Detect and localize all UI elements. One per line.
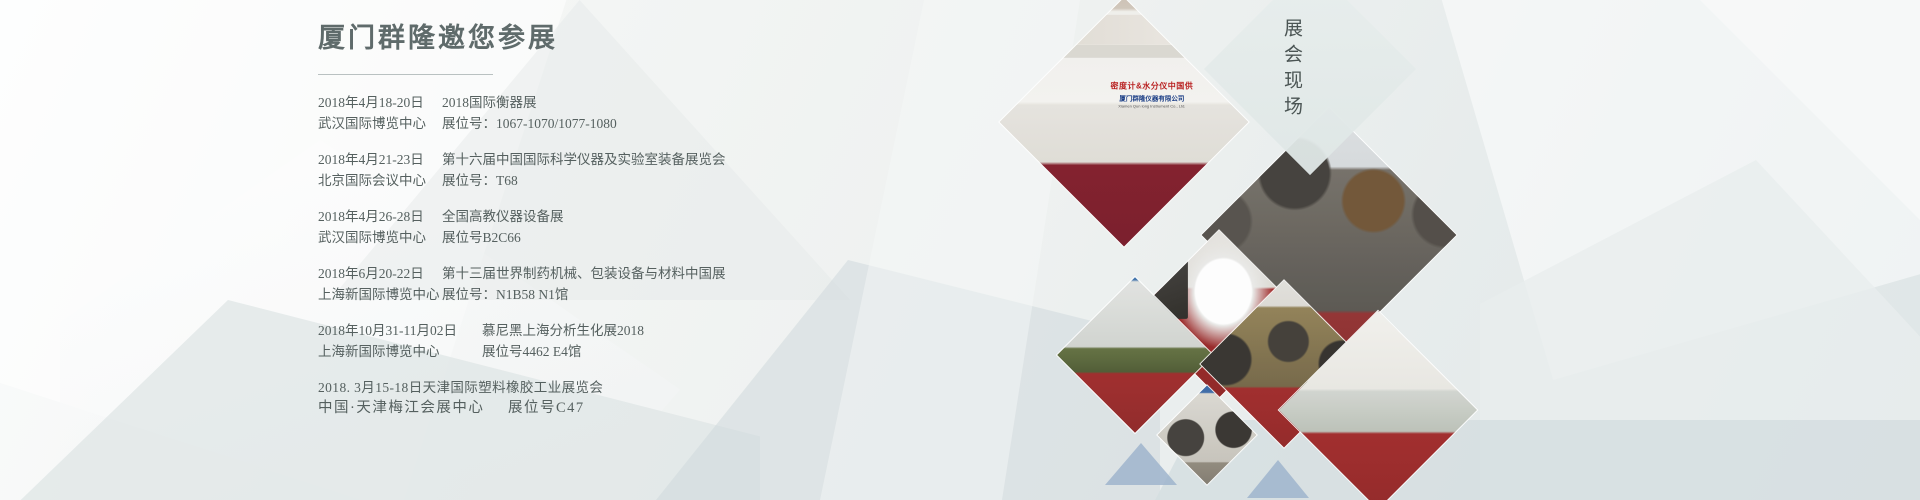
event-venue: 上海新国际博览中心	[318, 284, 442, 305]
background-facet-9	[1700, 0, 1920, 240]
event-row-primary: 2018年4月18-20日2018国际衡器展	[318, 92, 958, 113]
event-row-secondary: 中国·天津梅江会展中心展位号C47	[318, 398, 958, 419]
vertical-label-diamond	[1204, 0, 1416, 175]
event-list-panel: 厦门群隆邀您参展 2018年4月18-20日2018国际衡器展 武汉国际博览中心…	[318, 22, 958, 434]
event-name: 慕尼黑上海分析生化展2018	[482, 320, 644, 341]
event-row-primary: 2018年10月31-11月02日慕尼黑上海分析生化展2018	[318, 320, 958, 341]
photo-collage: 密度计&水分仪中国供 厦门群隆仪器有限公司 Xiamen Qun long In…	[1020, 0, 1460, 500]
event-booth: 展位号：T68	[442, 170, 518, 191]
event-item: 2018年6月20-22日第十三届世界制药机械、包装设备与材料中国展 上海新国际…	[318, 263, 958, 305]
promo-banner: 厦门群隆邀您参展 2018年4月18-20日2018国际衡器展 武汉国际博览中心…	[0, 0, 1920, 500]
event-row-secondary: 武汉国际博览中心展位号B2C66	[318, 227, 958, 248]
event-booth: 展位号B2C66	[442, 227, 521, 248]
event-row-secondary: 上海新国际博览中心展位号：N1B58 N1馆	[318, 284, 958, 305]
event-date: 2018年4月26-28日	[318, 206, 442, 227]
photo-tint	[1000, 0, 1249, 246]
triangle-accent-1	[1105, 443, 1177, 485]
event-row-primary: 2018. 3月15-18日天津国际塑料橡胶工业展览会	[318, 377, 958, 398]
booth-banner-line1: 密度计&水分仪中国供	[1088, 81, 1215, 92]
title-divider	[318, 74, 493, 75]
event-booth: 展位号：N1B58 N1馆	[442, 284, 568, 305]
event-date: 2018. 3月15-18日天津国际塑料橡胶工业展览会	[318, 377, 603, 398]
triangle-accent-2	[1247, 460, 1309, 498]
booth-banner-line2: 厦门群隆仪器有限公司	[1088, 93, 1215, 103]
page-title: 厦门群隆邀您参展	[318, 22, 958, 66]
event-row-secondary: 武汉国际博览中心展位号：1067-1070/1077-1080	[318, 113, 958, 134]
event-name: 第十六届中国国际科学仪器及实验室装备展览会	[442, 149, 726, 170]
booth-banner: 密度计&水分仪中国供 厦门群隆仪器有限公司 Xiamen Qun long In…	[1088, 81, 1215, 109]
event-item: 2018年4月26-28日全国高教仪器设备展 武汉国际博览中心展位号B2C66	[318, 206, 958, 248]
event-item: 2018年10月31-11月02日慕尼黑上海分析生化展2018 上海新国际博览中…	[318, 320, 958, 362]
event-venue: 中国·天津梅江会展中心	[318, 398, 508, 419]
event-name: 全国高教仪器设备展	[442, 206, 564, 227]
event-row-secondary: 北京国际会议中心展位号：T68	[318, 170, 958, 191]
collage-photo-exhibition-booth-overview: 密度计&水分仪中国供 厦门群隆仪器有限公司 Xiamen Qun long In…	[1000, 0, 1249, 246]
event-item: 2018年4月18-20日2018国际衡器展 武汉国际博览中心展位号：1067-…	[318, 92, 958, 134]
event-row-primary: 2018年4月21-23日第十六届中国国际科学仪器及实验室装备展览会	[318, 149, 958, 170]
event-row-primary: 2018年4月26-28日全国高教仪器设备展	[318, 206, 958, 227]
event-date: 2018年10月31-11月02日	[318, 320, 482, 341]
event-item: 2018. 3月15-18日天津国际塑料橡胶工业展览会 中国·天津梅江会展中心展…	[318, 377, 958, 419]
background-facet-7	[1430, 0, 1920, 380]
event-name: 2018国际衡器展	[442, 92, 537, 113]
event-booth: 展位号：1067-1070/1077-1080	[442, 113, 617, 134]
event-date: 2018年4月18-20日	[318, 92, 442, 113]
event-venue: 上海新国际博览中心	[318, 341, 482, 362]
booth-banner-line3: Xiamen Qun long Instrument Co., Ltd.	[1088, 104, 1215, 109]
event-row-secondary: 上海新国际博览中心展位号4462 E4馆	[318, 341, 958, 362]
event-item: 2018年4月21-23日第十六届中国国际科学仪器及实验室装备展览会 北京国际会…	[318, 149, 958, 191]
event-booth: 展位号C47	[508, 398, 585, 419]
event-venue: 武汉国际博览中心	[318, 113, 442, 134]
event-row-primary: 2018年6月20-22日第十三届世界制药机械、包装设备与材料中国展	[318, 263, 958, 284]
event-name: 第十三届世界制药机械、包装设备与材料中国展	[442, 263, 726, 284]
background-facet-8	[1480, 160, 1920, 500]
event-date: 2018年4月21-23日	[318, 149, 442, 170]
event-date: 2018年6月20-22日	[318, 263, 442, 284]
vertical-label: 展会现场	[1275, 18, 1305, 122]
event-booth: 展位号4462 E4馆	[482, 341, 581, 362]
event-venue: 武汉国际博览中心	[318, 227, 442, 248]
event-venue: 北京国际会议中心	[318, 170, 442, 191]
